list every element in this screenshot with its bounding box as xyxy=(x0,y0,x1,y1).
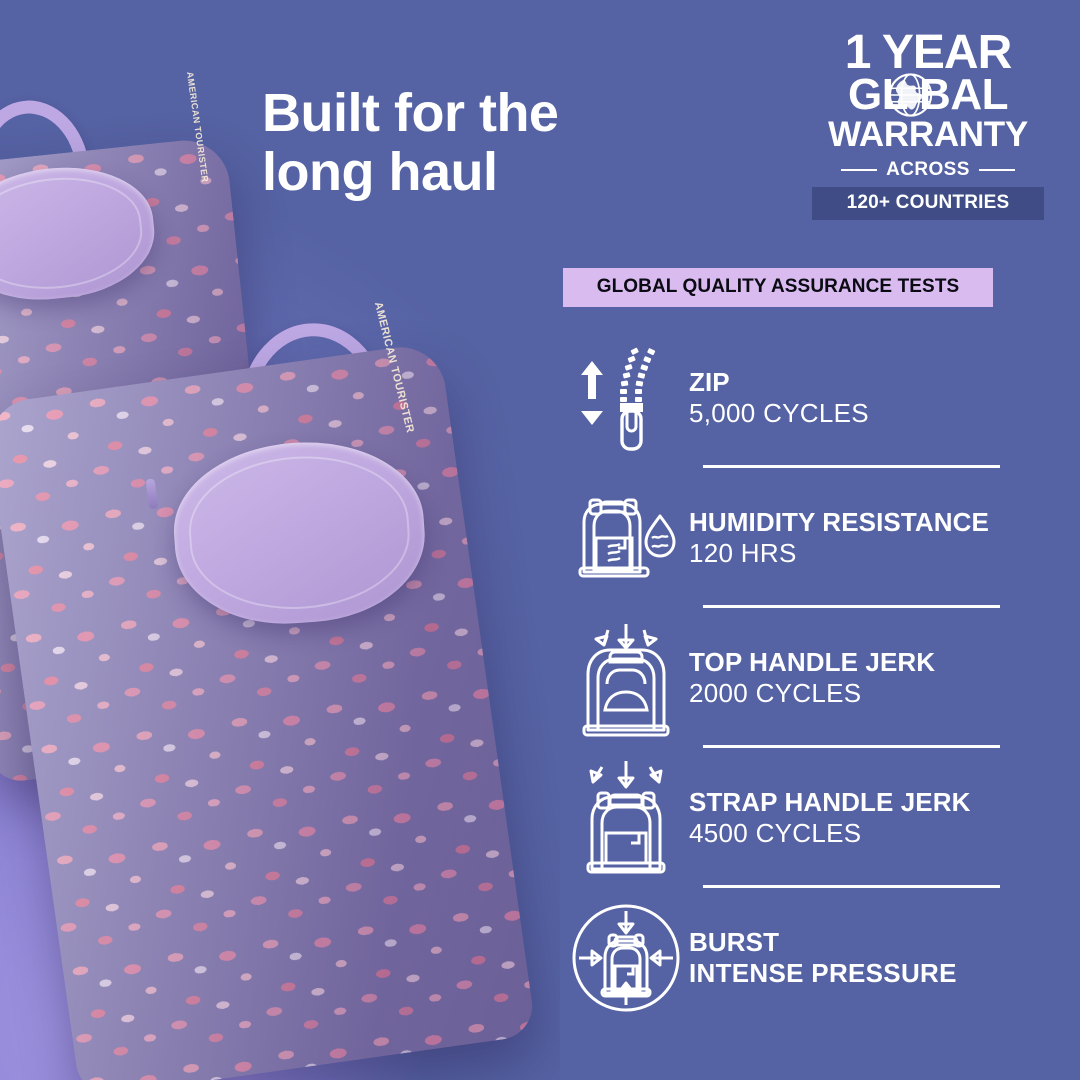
test-value: 120 HRS xyxy=(689,538,989,569)
section-header: GLOBAL QUALITY ASSURANCE TESTS xyxy=(563,268,993,307)
headline-line-2: long haul xyxy=(262,143,692,202)
test-title: TOP HANDLE JERK xyxy=(689,647,935,678)
test-row: BURST INTENSE PRESSURE xyxy=(563,888,1003,1028)
backpack-front-flap-seam xyxy=(184,450,414,616)
test-title: ZIP xyxy=(689,367,869,398)
rule-right xyxy=(979,169,1015,171)
test-value: 4500 CYCLES xyxy=(689,818,970,849)
page-title: Built for the long haul xyxy=(262,84,692,203)
rule-left xyxy=(841,169,877,171)
test-row: TOP HANDLE JERK 2000 CYCLES xyxy=(563,608,1003,748)
test-value: 5,000 CYCLES xyxy=(689,398,869,429)
warranty-badge: 1 YEAR GL BAL WARRANTY ACROSS 120+ COUNT… xyxy=(812,30,1044,220)
warranty-countries: 120+ COUNTRIES xyxy=(812,187,1044,220)
zipper-icon xyxy=(563,339,689,457)
warranty-duration: 1 YEAR xyxy=(812,30,1044,75)
backpack-back-flap-seam xyxy=(0,170,147,297)
test-row: HUMIDITY RESISTANCE 120 HRS xyxy=(563,468,1003,608)
test-row: ZIP 5,000 CYCLES xyxy=(563,328,1003,468)
backpack-water-drop-icon xyxy=(563,482,689,594)
test-text: BURST INTENSE PRESSURE xyxy=(689,927,957,989)
globe-icon xyxy=(888,72,934,118)
test-row: STRAP HANDLE JERK 4500 CYCLES xyxy=(563,748,1003,888)
test-title: HUMIDITY RESISTANCE xyxy=(689,507,989,538)
warranty-type: WARRANTY xyxy=(812,117,1044,152)
test-value: INTENSE PRESSURE xyxy=(689,958,957,989)
backpack-strap-arrows-icon xyxy=(563,757,689,879)
test-text: TOP HANDLE JERK 2000 CYCLES xyxy=(689,647,935,709)
test-text: HUMIDITY RESISTANCE 120 HRS xyxy=(689,507,989,569)
backpack-burst-pressure-icon xyxy=(563,901,689,1015)
warranty-across-row: ACROSS xyxy=(812,159,1044,181)
warranty-scope: GL BAL xyxy=(812,73,1044,117)
test-value: 2000 CYCLES xyxy=(689,678,935,709)
test-text: ZIP 5,000 CYCLES xyxy=(689,367,869,429)
test-text: STRAP HANDLE JERK 4500 CYCLES xyxy=(689,787,970,849)
warranty-across-label: ACROSS xyxy=(886,159,970,181)
backpack-top-handle-arrows-icon xyxy=(563,618,689,738)
quality-tests-list: ZIP 5,000 CYCLES HUMIDITY RESISTANCE xyxy=(563,328,1003,1028)
test-title: BURST xyxy=(689,927,957,958)
test-title: STRAP HANDLE JERK xyxy=(689,787,970,818)
headline-line-1: Built for the xyxy=(262,84,692,143)
